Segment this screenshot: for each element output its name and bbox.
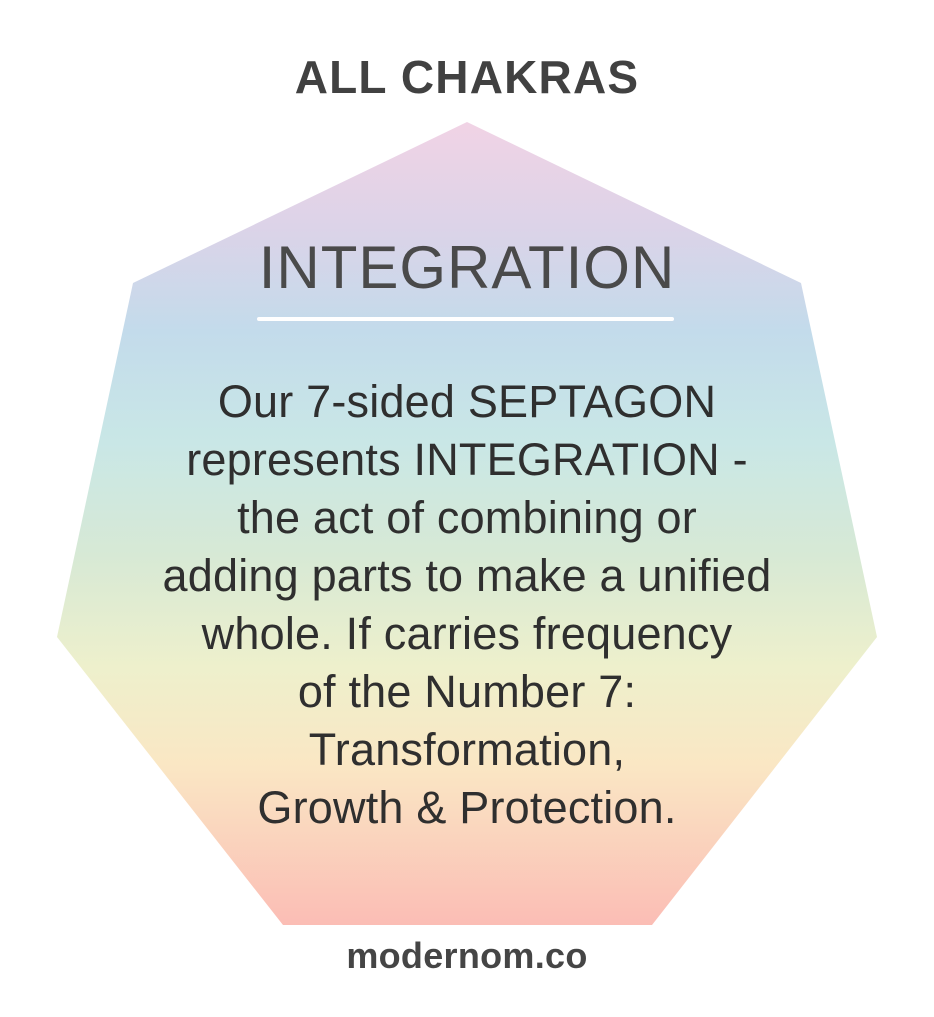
- septagon-polygon: [57, 122, 877, 925]
- septagon-svg: [0, 0, 934, 1017]
- chakra-info-card: ALL CHAKRAS INTEGRATION Our 7-sided SEPT…: [0, 0, 934, 1017]
- septagon-shape-container: [0, 0, 934, 1017]
- brand-footer: modernom.co: [0, 938, 934, 974]
